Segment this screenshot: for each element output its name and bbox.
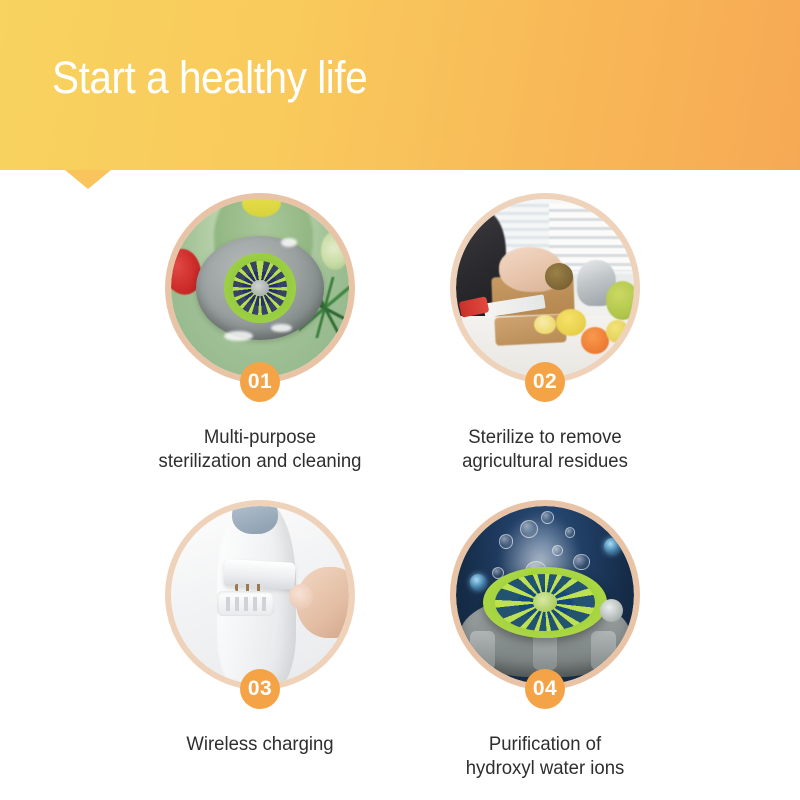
feature-photo-03 (165, 500, 355, 690)
feature-image-wrap-02 (450, 193, 640, 383)
cucumber-slice-shape (321, 231, 349, 270)
sterilizer-body-shape (196, 236, 324, 339)
caption-line: Multi-purpose (122, 426, 398, 450)
caption-line: Purification of (407, 733, 683, 757)
contact-dots-shape (235, 584, 263, 591)
hydroxyl-ion-icon (604, 538, 620, 554)
feature-number-badge-04: 04 (525, 669, 565, 709)
orange-shape (581, 327, 609, 354)
feature-caption-03: Wireless charging (122, 733, 398, 757)
bubble-shape (499, 534, 513, 548)
caption-line: hydroxyl water ions (407, 757, 683, 781)
caption-line: Wireless charging (122, 733, 398, 757)
feature-photo-04 (450, 500, 640, 690)
scene-wireless-charging (171, 506, 349, 684)
bubble-shape (552, 545, 563, 556)
scene-kitchen-prep (456, 199, 634, 377)
scene-sterilizer-green-water (171, 199, 349, 377)
feature-number-badge-01: 01 (240, 362, 280, 402)
feature-number-badge-02: 02 (525, 362, 565, 402)
feature-caption-01: Multi-purpose sterilization and cleaning (122, 426, 398, 474)
base-notch-shape (470, 631, 495, 670)
feature-photo-01 (165, 193, 355, 383)
feature-card-01[interactable]: 01 Multi-purpose sterilization and clean… (115, 190, 405, 490)
charging-pins-shape (221, 597, 271, 611)
feature-number-badge-03: 03 (240, 669, 280, 709)
base-notch-shape (591, 631, 616, 670)
features-grid: 01 Multi-purpose sterilization and clean… (0, 190, 800, 800)
lemon-shape (556, 309, 586, 336)
feature-card-03[interactable]: 03 Wireless charging (115, 497, 405, 797)
caption-line: Sterilize to remove (407, 426, 683, 450)
scene-hydroxyl-purification (456, 506, 634, 684)
green-pear-shape (606, 281, 634, 320)
caption-line: sterilization and cleaning (122, 450, 398, 474)
bubble-shape (573, 554, 589, 570)
feature-card-04[interactable]: 04 Purification of hydroxyl water ions (400, 497, 690, 797)
lemon-wedge-shape (534, 315, 555, 335)
banner-pointer-tail (65, 170, 111, 189)
sterilizer-rotor-shape (483, 567, 608, 638)
indicator-knob-shape (600, 599, 623, 622)
caption-line: agricultural residues (407, 450, 683, 474)
feature-caption-02: Sterilize to remove agricultural residue… (407, 426, 683, 474)
water-glint-shape (224, 331, 252, 342)
feature-image-wrap-01 (165, 193, 355, 383)
lemon-back-shape (606, 320, 629, 343)
feature-image-wrap-03 (165, 500, 355, 690)
feature-image-wrap-04 (450, 500, 640, 690)
header-banner: Start a healthy life (0, 0, 800, 170)
page-title: Start a healthy life (52, 53, 367, 103)
feature-card-02[interactable]: 02 Sterilize to remove agricultural resi… (400, 190, 690, 490)
hydroxyl-ion-icon (470, 574, 486, 590)
feature-photo-02 (450, 193, 640, 383)
kiwi-fruit-shape (545, 263, 573, 290)
feature-caption-04: Purification of hydroxyl water ions (407, 733, 683, 781)
sterilizer-rotor-shape (224, 253, 296, 323)
